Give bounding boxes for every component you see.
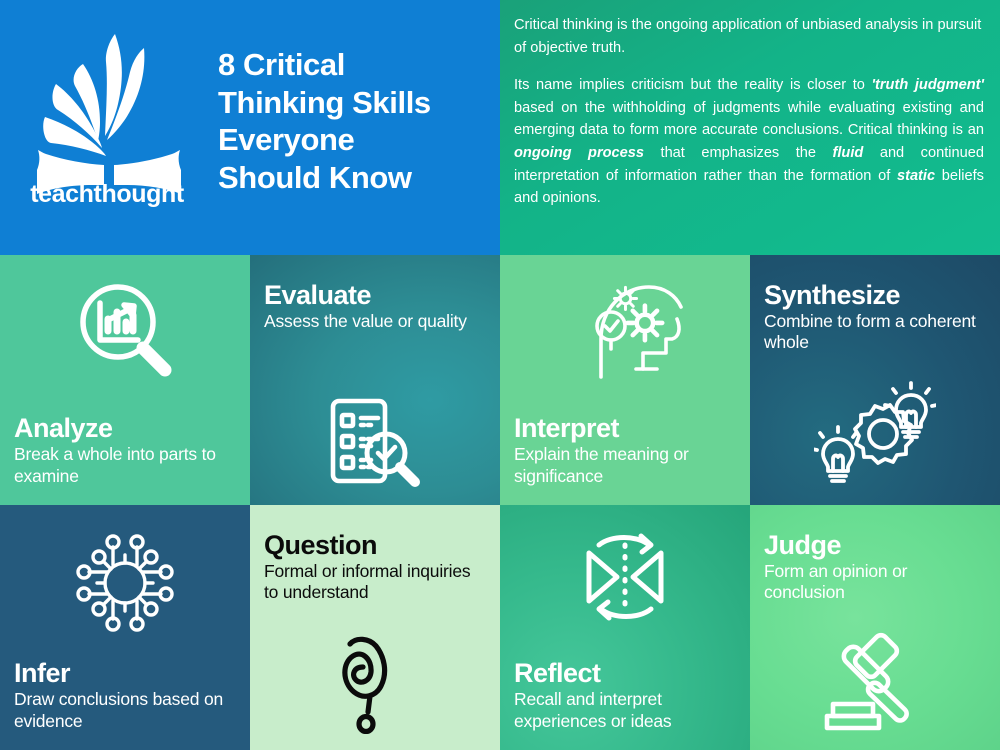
skill-name: Reflect	[514, 659, 736, 687]
skill-description: Form an opinion or conclusion	[764, 561, 986, 604]
skill-cell-synthesize[interactable]: Synthesize Combine to form a coherent wh…	[750, 255, 1000, 505]
mirrored-triangles-arrows-icon	[500, 505, 750, 631]
skill-cell-infer[interactable]: Infer Draw conclusions based on evidence	[0, 505, 250, 750]
title-line-2: Thinking Skills	[218, 84, 488, 122]
skill-name: Infer	[14, 659, 236, 687]
network-nodes-icon	[0, 505, 250, 643]
page-title: 8 Critical Thinking Skills Everyone Shou…	[218, 46, 488, 196]
skill-description: Recall and interpret experiences or idea…	[514, 689, 736, 732]
infographic-poster: teachthought 8 Critical Thinking Skills …	[0, 0, 1000, 750]
skill-cell-analyze[interactable]: Analyze Break a whole into parts to exam…	[0, 255, 250, 505]
head-with-gears-icon	[500, 255, 750, 385]
skill-cell-reflect[interactable]: Reflect Recall and interpret experiences…	[500, 505, 750, 750]
skill-text-evaluate: Evaluate Assess the value or quality	[250, 255, 500, 332]
title-line-1: 8 Critical	[218, 46, 488, 84]
brand-panel: teachthought 8 Critical Thinking Skills …	[0, 0, 500, 255]
checklist-magnifier-icon	[250, 395, 500, 505]
skill-description: Explain the meaning or significance	[514, 444, 736, 487]
skill-text-infer: Infer Draw conclusions based on evidence	[0, 659, 250, 750]
skill-name: Interpret	[514, 414, 736, 442]
intro-paragraph-2: Its name implies criticism but the reali…	[514, 74, 984, 210]
skill-cell-judge[interactable]: Judge Form an opinion or conclusion	[750, 505, 1000, 750]
gavel-icon	[750, 630, 1000, 750]
lightbulbs-gear-icon	[750, 381, 1000, 505]
skill-description: Combine to form a coherent whole	[764, 311, 986, 354]
skill-name: Question	[264, 531, 486, 559]
brand-wordmark: teachthought	[14, 180, 200, 209]
skill-description: Assess the value or quality	[264, 311, 486, 332]
skill-text-judge: Judge Form an opinion or conclusion	[750, 505, 1000, 604]
skill-text-synthesize: Synthesize Combine to form a coherent wh…	[750, 255, 1000, 354]
skill-description: Formal or informal inquiries to understa…	[264, 561, 486, 604]
skill-name: Judge	[764, 531, 986, 559]
intro-panel: Critical thinking is the ongoing applica…	[500, 0, 1000, 255]
skill-name: Evaluate	[264, 281, 486, 309]
skill-text-question: Question Formal or informal inquiries to…	[250, 505, 500, 604]
spiral-question-mark-icon	[250, 634, 500, 750]
skill-cell-question[interactable]: Question Formal or informal inquiries to…	[250, 505, 500, 750]
skills-grid: Analyze Break a whole into parts to exam…	[0, 255, 1000, 750]
skill-text-analyze: Analyze Break a whole into parts to exam…	[0, 414, 250, 505]
skill-name: Synthesize	[764, 281, 986, 309]
title-line-3: Everyone	[218, 121, 488, 159]
skill-description: Break a whole into parts to examine	[14, 444, 236, 487]
skill-cell-interpret[interactable]: Interpret Explain the meaning or signifi…	[500, 255, 750, 505]
title-line-4: Should Know	[218, 159, 488, 197]
intro-paragraph-1: Critical thinking is the ongoing applica…	[514, 14, 984, 59]
skill-text-reflect: Reflect Recall and interpret experiences…	[500, 659, 750, 750]
skill-cell-evaluate[interactable]: Evaluate Assess the value or quality	[250, 255, 500, 505]
header: teachthought 8 Critical Thinking Skills …	[0, 0, 1000, 255]
magnifier-bar-chart-icon	[0, 255, 250, 391]
skill-description: Draw conclusions based on evidence	[14, 689, 236, 732]
skill-text-interpret: Interpret Explain the meaning or signifi…	[500, 414, 750, 505]
skill-name: Analyze	[14, 414, 236, 442]
